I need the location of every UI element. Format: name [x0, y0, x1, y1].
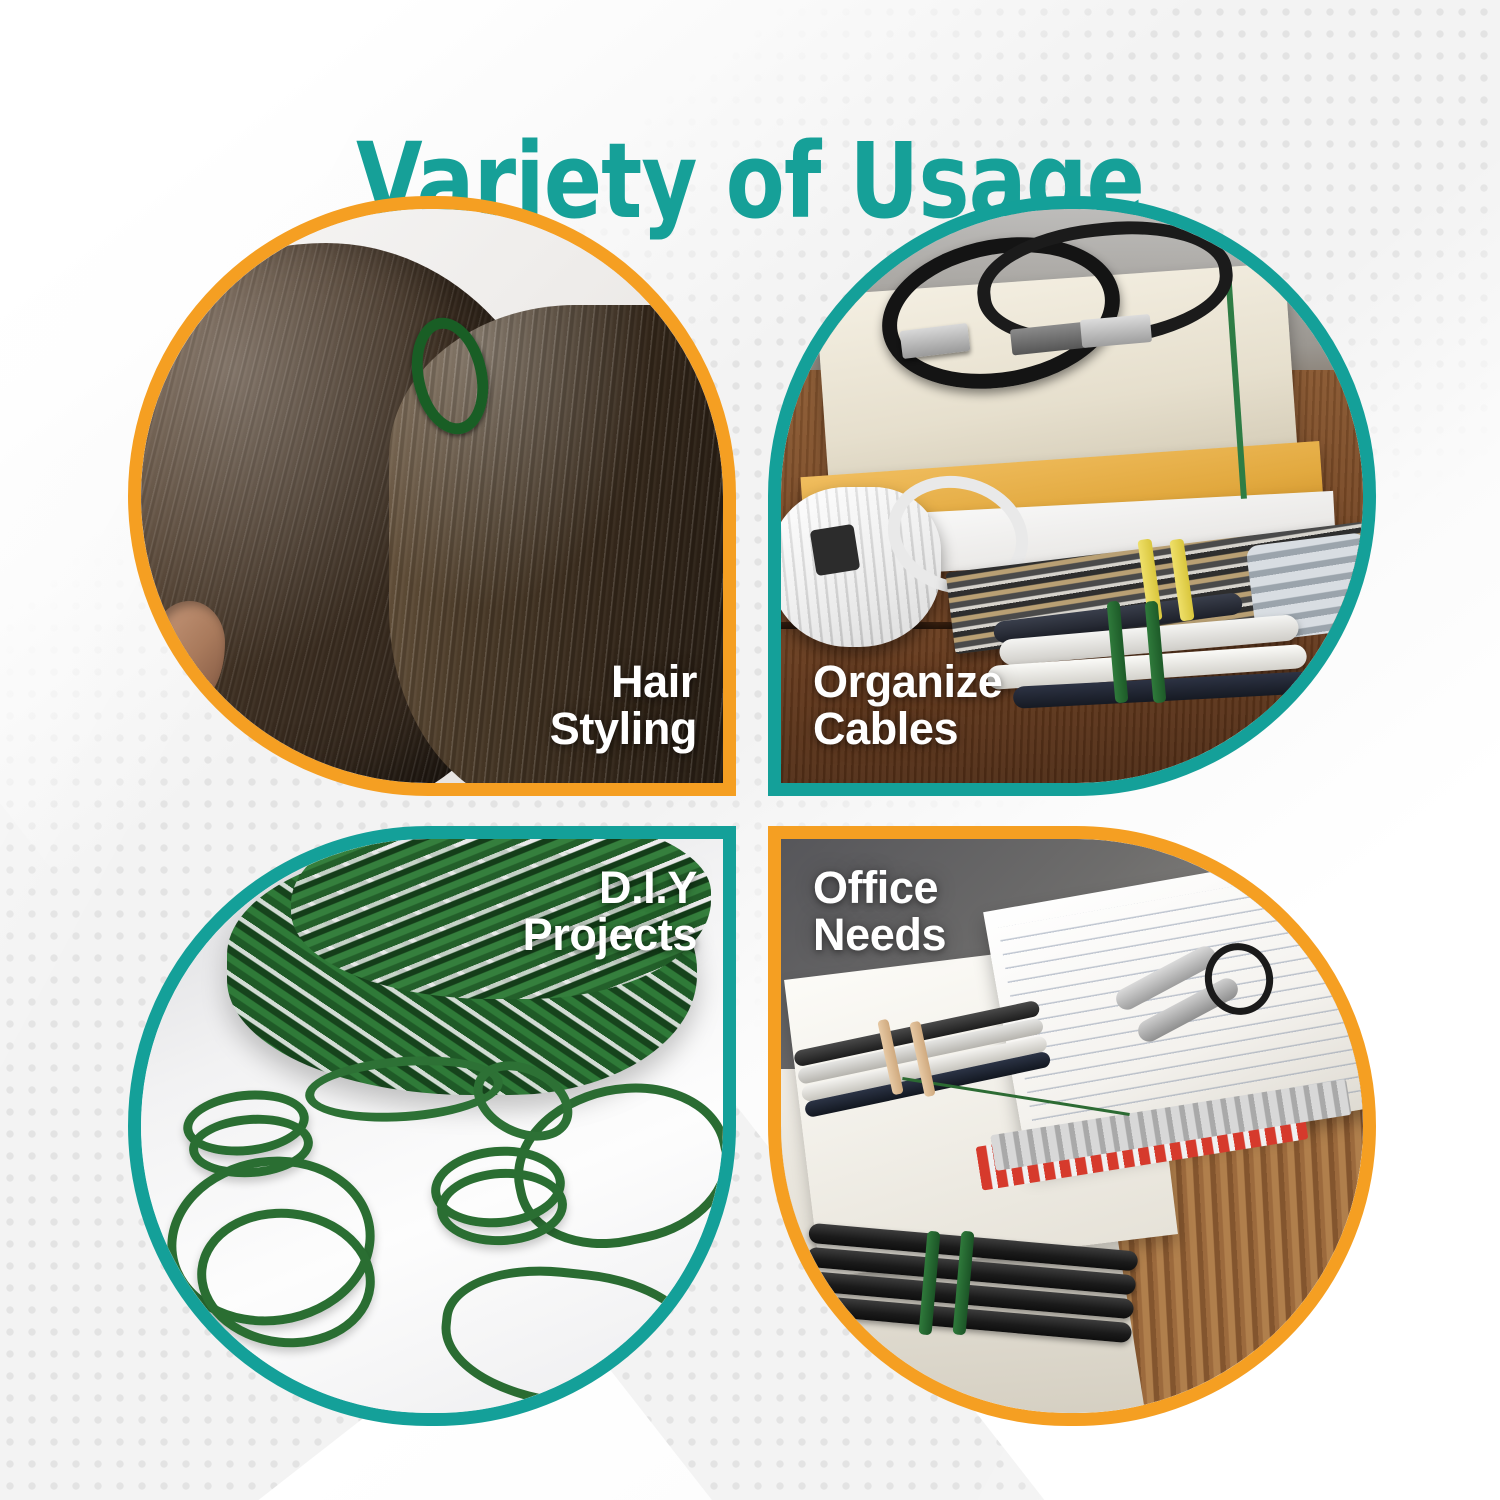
petal-hair-styling[interactable]: Hair Styling [128, 196, 736, 796]
petal-caption-diy-projects: D.I.Y Projects [523, 865, 697, 959]
petal-caption-office-needs: Office Needs [813, 865, 946, 959]
petal-organize-cables[interactable]: Organize Cables [768, 196, 1376, 796]
petal-caption-organize-cables: Organize Cables [813, 659, 1002, 753]
charger-magsafe-tip [810, 524, 861, 576]
petal-caption-hair-styling: Hair Styling [550, 659, 697, 753]
usage-petal-grid: Hair Styling [128, 196, 1376, 1426]
petal-office-needs[interactable]: Office Needs [768, 826, 1376, 1426]
petal-diy-projects[interactable]: D.I.Y Projects [128, 826, 736, 1426]
